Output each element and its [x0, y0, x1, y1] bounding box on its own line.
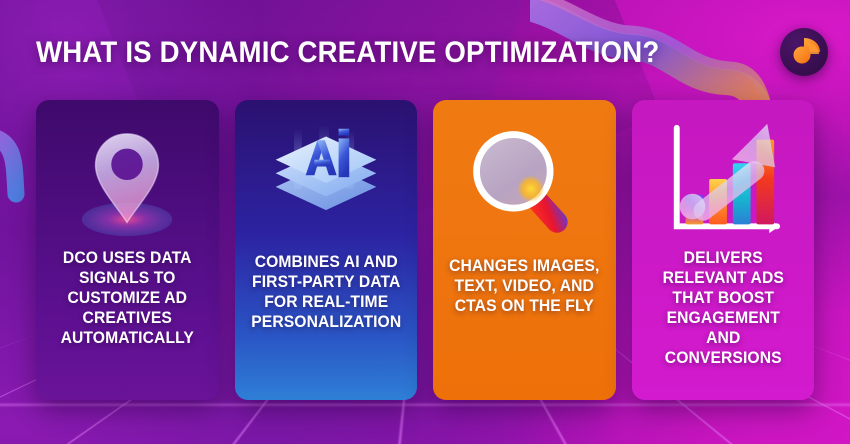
card-text: CHANGES IMAGES, TEXT, VIDEO, AND CTAS ON…	[447, 256, 601, 316]
magnifying-glass-icon	[443, 116, 606, 248]
card-relevant-ads[interactable]: DELIVERS RELEVANT ADS THAT BOOST ENGAGEM…	[632, 100, 815, 400]
card-data-signals[interactable]: DCO USES DATA SIGNALS TO CUSTOMIZE AD CR…	[36, 100, 219, 400]
cards-row: DCO USES DATA SIGNALS TO CUSTOMIZE AD CR…	[36, 100, 814, 400]
ai-layers-icon	[245, 116, 408, 248]
location-pin-icon	[46, 116, 209, 248]
card-text: COMBINES AI AND FIRST-PARTY DATA FOR REA…	[249, 252, 403, 332]
infographic-canvas: WHAT IS DYNAMIC CREATIVE OPTIMIZATION?	[0, 0, 850, 444]
card-text: DELIVERS RELEVANT ADS THAT BOOST ENGAGEM…	[646, 248, 800, 368]
card-ai-first-party-data[interactable]: COMBINES AI AND FIRST-PARTY DATA FOR REA…	[235, 100, 418, 400]
brand-logo[interactable]	[780, 28, 828, 76]
brand-logo-glyph	[780, 28, 828, 76]
card-changes-creative[interactable]: CHANGES IMAGES, TEXT, VIDEO, AND CTAS ON…	[433, 100, 616, 400]
card-text: DCO USES DATA SIGNALS TO CUSTOMIZE AD CR…	[50, 248, 204, 348]
growth-bar-chart-icon	[642, 116, 805, 248]
page-title: WHAT IS DYNAMIC CREATIVE OPTIMIZATION?	[36, 36, 659, 70]
